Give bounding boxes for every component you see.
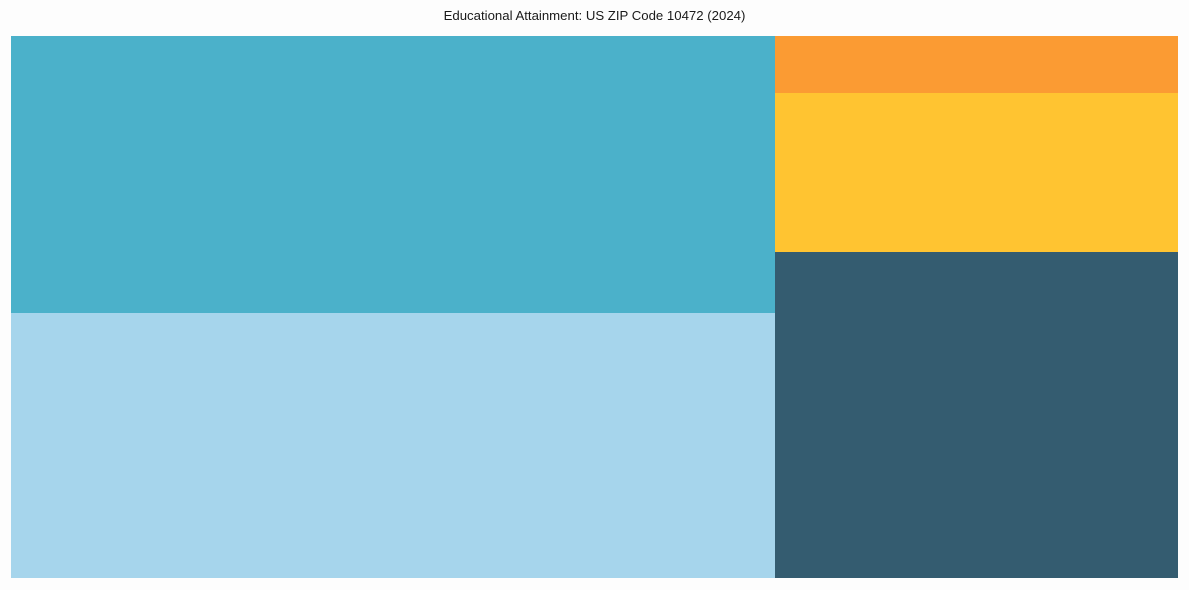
treemap-tile[interactable]: Bachelor's degree	[775, 93, 1178, 252]
treemap-plot-area: High school graduate or equivalent Less …	[11, 36, 1178, 578]
treemap-tile-label: High school graduate or equivalent	[17, 40, 187, 52]
chart-title: Educational Attainment: US ZIP Code 1047…	[0, 7, 1189, 24]
treemap-tile[interactable]: Graduate or professional degree	[775, 36, 1178, 93]
treemap-tile-label: Graduate or professional degree	[781, 40, 939, 52]
treemap-tile[interactable]: Less than high school diploma	[11, 313, 775, 578]
treemap-tile[interactable]: High school graduate or equivalent	[11, 36, 775, 313]
treemap-tile-label: Less than high school diploma	[17, 317, 165, 329]
treemap-tile[interactable]: Some college or associate's degree	[775, 252, 1178, 578]
treemap-tile-label: Bachelor's degree	[781, 97, 869, 109]
treemap-tile-label: Some college or associate's degree	[781, 256, 955, 268]
chart-figure: Educational Attainment: US ZIP Code 1047…	[0, 0, 1189, 590]
